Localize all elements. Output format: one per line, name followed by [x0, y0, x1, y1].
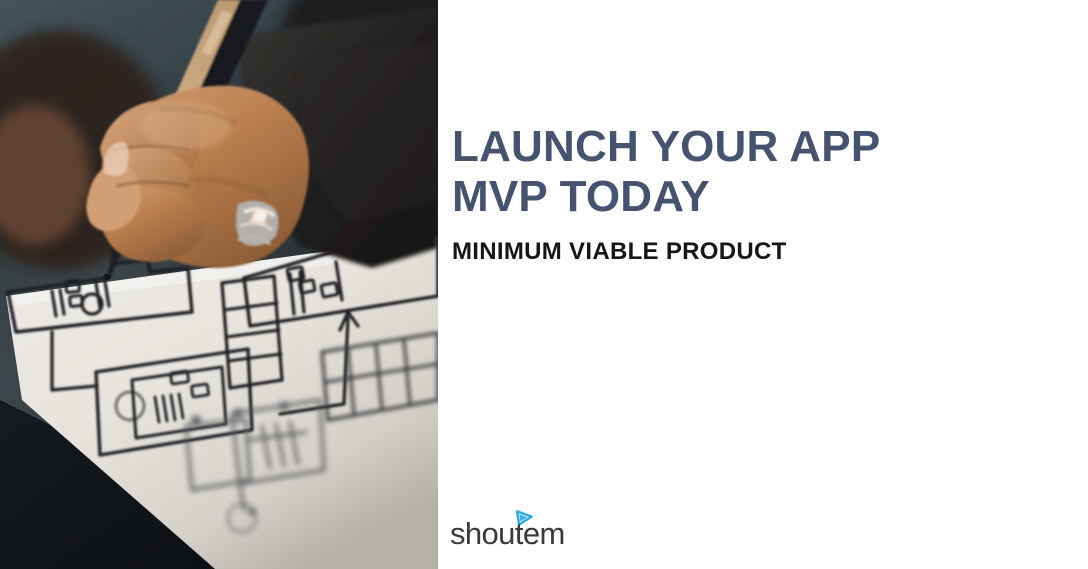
- logo-wordmark: shoutem: [450, 518, 565, 549]
- marketing-banner: LAUNCH YOUR APP MVP TODAY MINIMUM VIABLE…: [0, 0, 1088, 569]
- photo-illustration: [0, 0, 438, 569]
- page-title: LAUNCH YOUR APP MVP TODAY: [452, 122, 952, 222]
- page-subtitle: MINIMUM VIABLE PRODUCT: [452, 237, 972, 267]
- content-panel: LAUNCH YOUR APP MVP TODAY MINIMUM VIABLE…: [438, 0, 1088, 569]
- shoutem-logo[interactable]: shoutem: [450, 508, 620, 554]
- hero-photo: [0, 0, 438, 569]
